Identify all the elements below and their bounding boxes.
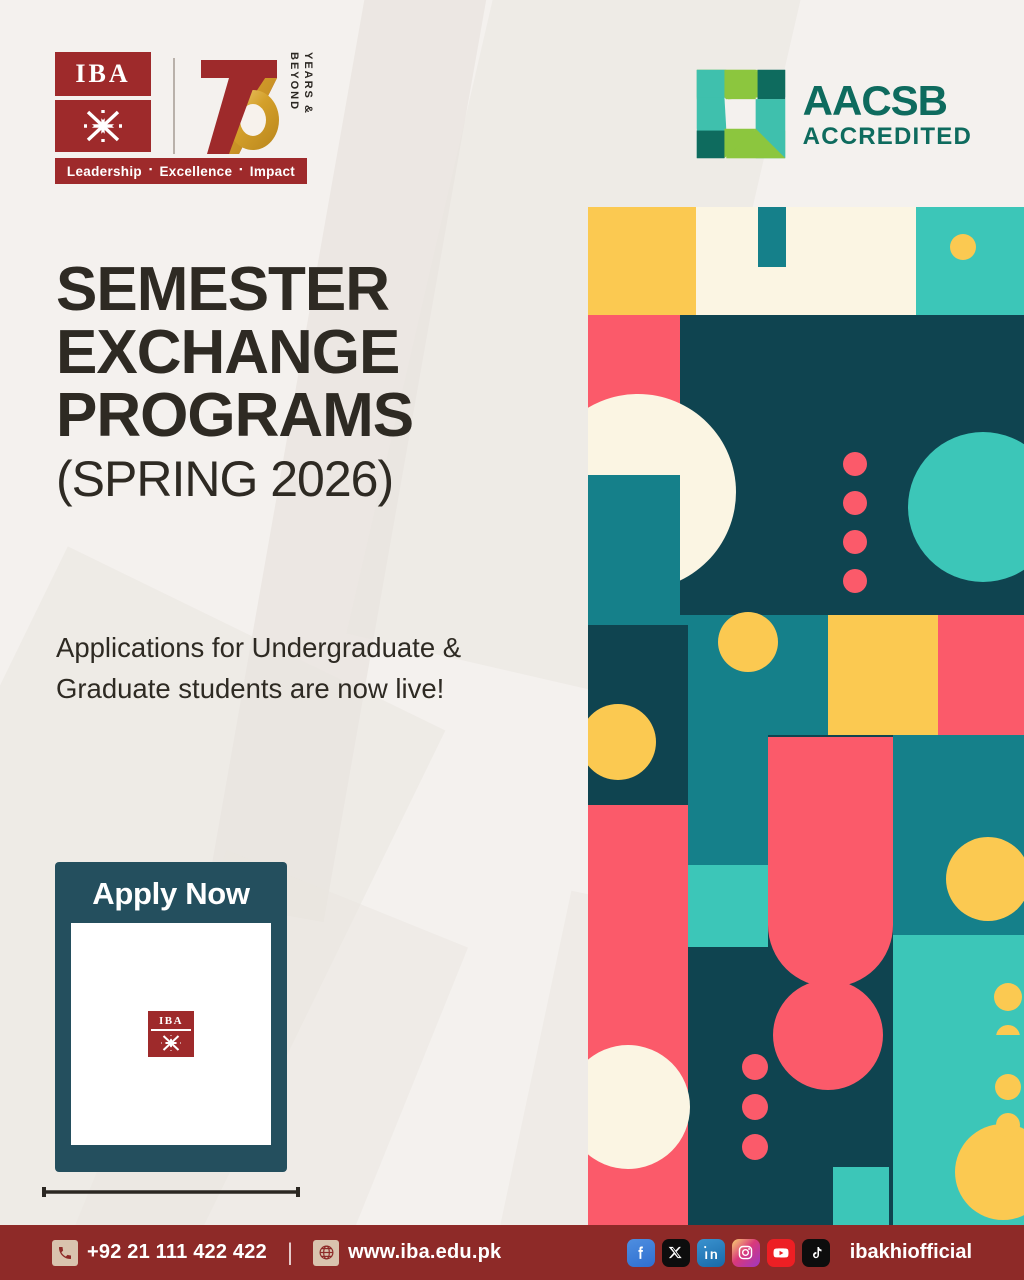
art-rect bbox=[688, 735, 768, 865]
iba-logo: IBA bbox=[55, 52, 307, 182]
instagram-icon[interactable] bbox=[732, 1239, 760, 1267]
starburst-icon bbox=[80, 106, 126, 146]
art-circle bbox=[742, 1134, 768, 1160]
art-circle bbox=[773, 980, 883, 1090]
facebook-icon[interactable] bbox=[627, 1239, 655, 1267]
globe-icon bbox=[313, 1240, 339, 1266]
art-circle bbox=[718, 612, 778, 672]
qr-starburst-icon bbox=[159, 1033, 183, 1053]
art-circle bbox=[946, 837, 1024, 921]
qr-logo-word: IBA bbox=[159, 1015, 183, 1027]
social-links: ibakhiofficial bbox=[627, 1239, 972, 1267]
decorative-artwork-panel bbox=[588, 207, 1024, 1225]
art-rect bbox=[758, 207, 786, 267]
art-circle bbox=[995, 1074, 1021, 1100]
headline-line-2: EXCHANGE bbox=[56, 321, 576, 384]
art-rect bbox=[916, 207, 1024, 315]
art-circle bbox=[996, 1113, 1020, 1137]
social-handle: ibakhiofficial bbox=[850, 1241, 972, 1264]
iba-wordmark-box: IBA bbox=[55, 52, 151, 96]
phone-number: +92 21 111 422 422 bbox=[87, 1241, 267, 1264]
page-title: SEMESTER EXCHANGE PROGRAMS (SPRING 2026) bbox=[56, 258, 576, 506]
headline-term: (SPRING 2026) bbox=[56, 452, 576, 506]
iba-tagline: Leadership ▪ Excellence ▪ Impact bbox=[55, 158, 307, 184]
logo-divider bbox=[173, 58, 175, 154]
art-rect bbox=[588, 207, 696, 315]
x-twitter-icon[interactable] bbox=[662, 1239, 690, 1267]
anniversary-caption: YEARS & BEYOND bbox=[287, 52, 315, 156]
qr-logo-separator bbox=[151, 1029, 191, 1031]
tagline-dot-icon: ▪ bbox=[239, 164, 243, 174]
art-rect bbox=[588, 475, 680, 625]
anniversary-70-mark bbox=[195, 54, 283, 158]
aacsb-status: ACCREDITED bbox=[803, 125, 972, 149]
art-circle bbox=[843, 452, 867, 476]
art-circle bbox=[843, 530, 867, 554]
art-circle bbox=[742, 1094, 768, 1120]
contact-footer: +92 21 111 422 422 | www.iba.edu.pk bbox=[0, 1225, 1024, 1280]
website-url: www.iba.edu.pk bbox=[348, 1241, 501, 1264]
youtube-icon[interactable] bbox=[767, 1239, 795, 1267]
tagline-impact: Impact bbox=[250, 164, 295, 179]
iba-wordmark: IBA bbox=[75, 59, 130, 89]
iba-logo-mark: IBA bbox=[55, 52, 151, 152]
qr-code[interactable]: IBA bbox=[71, 923, 271, 1145]
art-rect bbox=[696, 207, 916, 315]
phone-icon bbox=[52, 1240, 78, 1266]
poster-canvas: IBA bbox=[0, 0, 1024, 1280]
art-rect bbox=[828, 615, 938, 735]
website-block[interactable]: www.iba.edu.pk bbox=[313, 1240, 501, 1266]
apply-now-label: Apply Now bbox=[92, 876, 249, 912]
apply-now-card[interactable]: Apply Now IBA bbox=[55, 862, 287, 1172]
phone-block[interactable]: +92 21 111 422 422 bbox=[52, 1240, 267, 1266]
aacsb-accreditation-logo: AACSB ACCREDITED bbox=[695, 68, 972, 160]
art-circle bbox=[994, 983, 1022, 1011]
art-rect bbox=[588, 805, 688, 945]
art-circle bbox=[742, 1054, 768, 1080]
aacsb-mark-icon bbox=[695, 68, 787, 160]
qr-embedded-iba-logo: IBA bbox=[146, 1009, 196, 1059]
art-rect bbox=[768, 737, 893, 987]
art-circle bbox=[843, 569, 867, 593]
measure-rule bbox=[40, 1186, 302, 1198]
tagline-dot-icon: ▪ bbox=[149, 164, 153, 174]
linkedin-icon[interactable] bbox=[697, 1239, 725, 1267]
iba-starburst-box bbox=[55, 100, 151, 152]
headline-line-1: SEMESTER bbox=[56, 258, 576, 321]
footer-separator: | bbox=[287, 1239, 293, 1267]
art-circle bbox=[950, 234, 976, 260]
tagline-leadership: Leadership bbox=[67, 164, 142, 179]
headline-line-3: PROGRAMS bbox=[56, 384, 576, 447]
aacsb-name: AACSB bbox=[803, 80, 972, 122]
art-circle bbox=[843, 491, 867, 515]
subheading-text: Applications for Undergraduate & Graduat… bbox=[56, 628, 526, 709]
art-rect bbox=[833, 1167, 889, 1225]
tagline-excellence: Excellence bbox=[159, 164, 232, 179]
tiktok-icon[interactable] bbox=[802, 1239, 830, 1267]
